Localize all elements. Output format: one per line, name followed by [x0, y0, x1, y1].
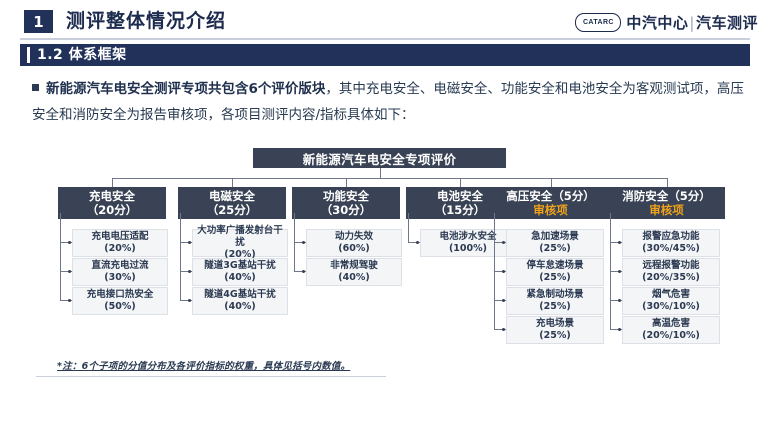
sub-item-name-2-0: 动力失效	[335, 231, 373, 243]
category-audit-badge-4: 审核项	[533, 203, 568, 217]
category-box-0[interactable]: 充电安全（20分）	[58, 187, 166, 219]
sub-item-name-4-3: 充电场景	[536, 318, 574, 330]
sub-item-box-5-3[interactable]: 高温危害(20%/10%)	[622, 316, 720, 344]
connector-to-category-5	[667, 178, 668, 187]
sub-item-box-0-0[interactable]: 充电电压适配(20%)	[72, 229, 168, 257]
connector-root-stem	[380, 168, 381, 178]
sub-item-box-4-0[interactable]: 急加速场景(25%)	[506, 229, 604, 257]
connector-spine-0	[60, 213, 61, 300]
sub-item-name-2-1: 非常规驾驶	[330, 260, 378, 272]
sub-item-weight-1-1: (40%)	[224, 272, 255, 284]
footnote-text: *注：6个子项的分值分布及各评价指标的权重，具体见括号内数值。	[57, 358, 350, 372]
sub-item-name-0-1: 直流充电过流	[91, 260, 148, 272]
connector-dot-1-1	[188, 270, 191, 273]
connector-dot-1-0	[188, 241, 191, 244]
connector-root-bus	[112, 178, 667, 179]
category-box-4[interactable]: 高压安全（5分）审核项	[492, 187, 609, 219]
connector-dot-5-2	[618, 299, 621, 302]
category-name-0: 充电安全	[89, 189, 135, 203]
connector-dot-5-1	[618, 270, 621, 273]
sub-item-weight-4-0: (25%)	[539, 243, 570, 255]
framework-diagram: 新能源汽车电安全专项评价 充电安全（20分）充电电压适配(20%)直流充电过流(…	[0, 140, 770, 380]
connector-dot-5-3	[618, 328, 621, 331]
category-score-1: （25分）	[207, 203, 258, 217]
page-title: 测评整体情况介绍	[66, 8, 226, 34]
section-bar: 1.2 体系框架	[20, 44, 750, 66]
sub-item-name-3-0: 电池涉水安全	[439, 231, 496, 243]
category-box-2[interactable]: 功能安全（30分）	[292, 187, 400, 219]
catarc-logo-icon: CATARC	[575, 13, 621, 32]
sub-item-weight-4-2: (25%)	[539, 301, 570, 313]
connector-dot-0-2	[68, 299, 71, 302]
sub-item-box-4-2[interactable]: 紧急制动场景(25%)	[506, 287, 604, 315]
sub-item-box-2-1[interactable]: 非常规驾驶(40%)	[306, 258, 402, 286]
square-bullet-icon	[32, 84, 39, 91]
connector-dot-4-3	[502, 328, 505, 331]
sub-item-name-0-0: 充电电压适配	[91, 231, 148, 243]
sub-item-weight-2-0: (60%)	[338, 243, 369, 255]
paragraph-lead: 新能源汽车电安全测评专项共包含6个评价版块	[46, 81, 325, 97]
category-name-2: 功能安全	[323, 189, 369, 203]
intro-paragraph: 新能源汽车电安全测评专项共包含6个评价版块，其中充电安全、电磁安全、功能安全和电…	[32, 76, 747, 128]
connector-spine-1	[180, 213, 181, 300]
diagram-root-node: 新能源汽车电安全专项评价	[253, 148, 506, 168]
connector-to-category-4	[551, 178, 552, 187]
section-title: 1.2 体系框架	[37, 46, 127, 64]
category-audit-badge-5: 审核项	[649, 203, 684, 217]
sub-item-weight-0-0: (20%)	[104, 243, 135, 255]
sub-item-weight-0-2: (50%)	[104, 301, 135, 313]
sub-item-weight-5-1: (20%/35%)	[642, 272, 700, 284]
category-score-0: （20分）	[87, 203, 138, 217]
connector-dot-2-1	[302, 270, 305, 273]
header-section-number: 1	[24, 10, 53, 33]
sub-item-name-5-3: 高温危害	[652, 318, 690, 330]
sub-item-box-4-3[interactable]: 充电场景(25%)	[506, 316, 604, 344]
brand-logo: CATARC 中汽中心|汽车测评	[575, 11, 758, 33]
header-divider	[20, 38, 750, 40]
category-name-4: 高压安全（5分）	[506, 189, 595, 203]
sub-item-box-0-1[interactable]: 直流充电过流(30%)	[72, 258, 168, 286]
connector-dot-1-2	[188, 299, 191, 302]
connector-to-category-3	[460, 178, 461, 187]
brand-logo-text: 中汽中心|汽车测评	[626, 12, 758, 33]
connector-dot-0-1	[68, 270, 71, 273]
connector-to-category-0	[112, 178, 113, 187]
sub-item-box-0-2[interactable]: 充电接口热安全(50%)	[72, 287, 168, 315]
connector-spine-3	[408, 213, 409, 242]
sub-item-weight-5-2: (30%/10%)	[642, 301, 700, 313]
category-score-3: （15分）	[435, 203, 486, 217]
sub-item-weight-5-3: (20%/10%)	[642, 330, 700, 342]
sub-item-weight-5-0: (30%/45%)	[642, 243, 700, 255]
connector-dot-3-0	[416, 241, 419, 244]
category-name-5: 消防安全（5分）	[622, 189, 711, 203]
category-name-3: 电池安全	[437, 189, 483, 203]
sub-item-box-1-0[interactable]: 大功率广播发射台干扰(20%)	[192, 229, 288, 257]
connector-dot-5-0	[618, 241, 621, 244]
sub-item-weight-3-0: (100%)	[449, 243, 487, 255]
sub-item-name-5-1: 远程报警功能	[642, 260, 699, 272]
sub-item-name-0-2: 充电接口热安全	[87, 289, 154, 301]
sub-item-box-1-2[interactable]: 隧道4G基站干扰(40%)	[192, 287, 288, 315]
connector-dot-4-1	[502, 270, 505, 273]
sub-item-weight-2-1: (40%)	[338, 272, 369, 284]
sub-item-name-5-2: 烟气危害	[652, 289, 690, 301]
sub-item-box-5-2[interactable]: 烟气危害(30%/10%)	[622, 287, 720, 315]
sub-item-name-4-0: 急加速场景	[531, 231, 579, 243]
sub-item-name-1-0: 大功率广播发射台干扰	[193, 225, 287, 249]
sub-item-name-1-2: 隧道4G基站干扰	[204, 289, 275, 301]
brand-name-right: 汽车测评	[696, 14, 758, 32]
sub-item-box-2-0[interactable]: 动力失效(60%)	[306, 229, 402, 257]
connector-dot-2-0	[302, 241, 305, 244]
sub-item-name-1-1: 隧道3G基站干扰	[204, 260, 275, 272]
sub-item-weight-1-2: (40%)	[224, 301, 255, 313]
brand-separator: |	[688, 14, 696, 32]
category-score-2: （30分）	[321, 203, 372, 217]
connector-dot-4-0	[502, 241, 505, 244]
sub-item-box-5-0[interactable]: 报警应急功能(30%/45%)	[622, 229, 720, 257]
sub-item-weight-0-1: (30%)	[104, 272, 135, 284]
category-box-1[interactable]: 电磁安全（25分）	[178, 187, 286, 219]
sub-item-weight-4-1: (25%)	[539, 272, 570, 284]
connector-dot-0-0	[68, 241, 71, 244]
sub-item-name-4-1: 停车怠速场景	[526, 260, 583, 272]
connector-to-category-1	[232, 178, 233, 187]
sub-item-name-5-0: 报警应急功能	[642, 231, 699, 243]
connector-to-category-2	[346, 178, 347, 187]
section-accent-mark	[27, 47, 30, 63]
sub-item-box-4-1[interactable]: 停车怠速场景(25%)	[506, 258, 604, 286]
category-name-1: 电磁安全	[209, 189, 255, 203]
page-header: 1 测评整体情况介绍 CATARC 中汽中心|汽车测评	[0, 0, 770, 41]
footnote-divider	[36, 376, 386, 377]
connector-dot-4-2	[502, 299, 505, 302]
sub-item-name-4-2: 紧急制动场景	[526, 289, 583, 301]
sub-item-box-1-1[interactable]: 隧道3G基站干扰(40%)	[192, 258, 288, 286]
sub-item-weight-4-3: (25%)	[539, 330, 570, 342]
sub-item-box-5-1[interactable]: 远程报警功能(20%/35%)	[622, 258, 720, 286]
category-box-5[interactable]: 消防安全（5分）审核项	[608, 187, 725, 219]
brand-name-left: 中汽中心	[626, 14, 688, 32]
